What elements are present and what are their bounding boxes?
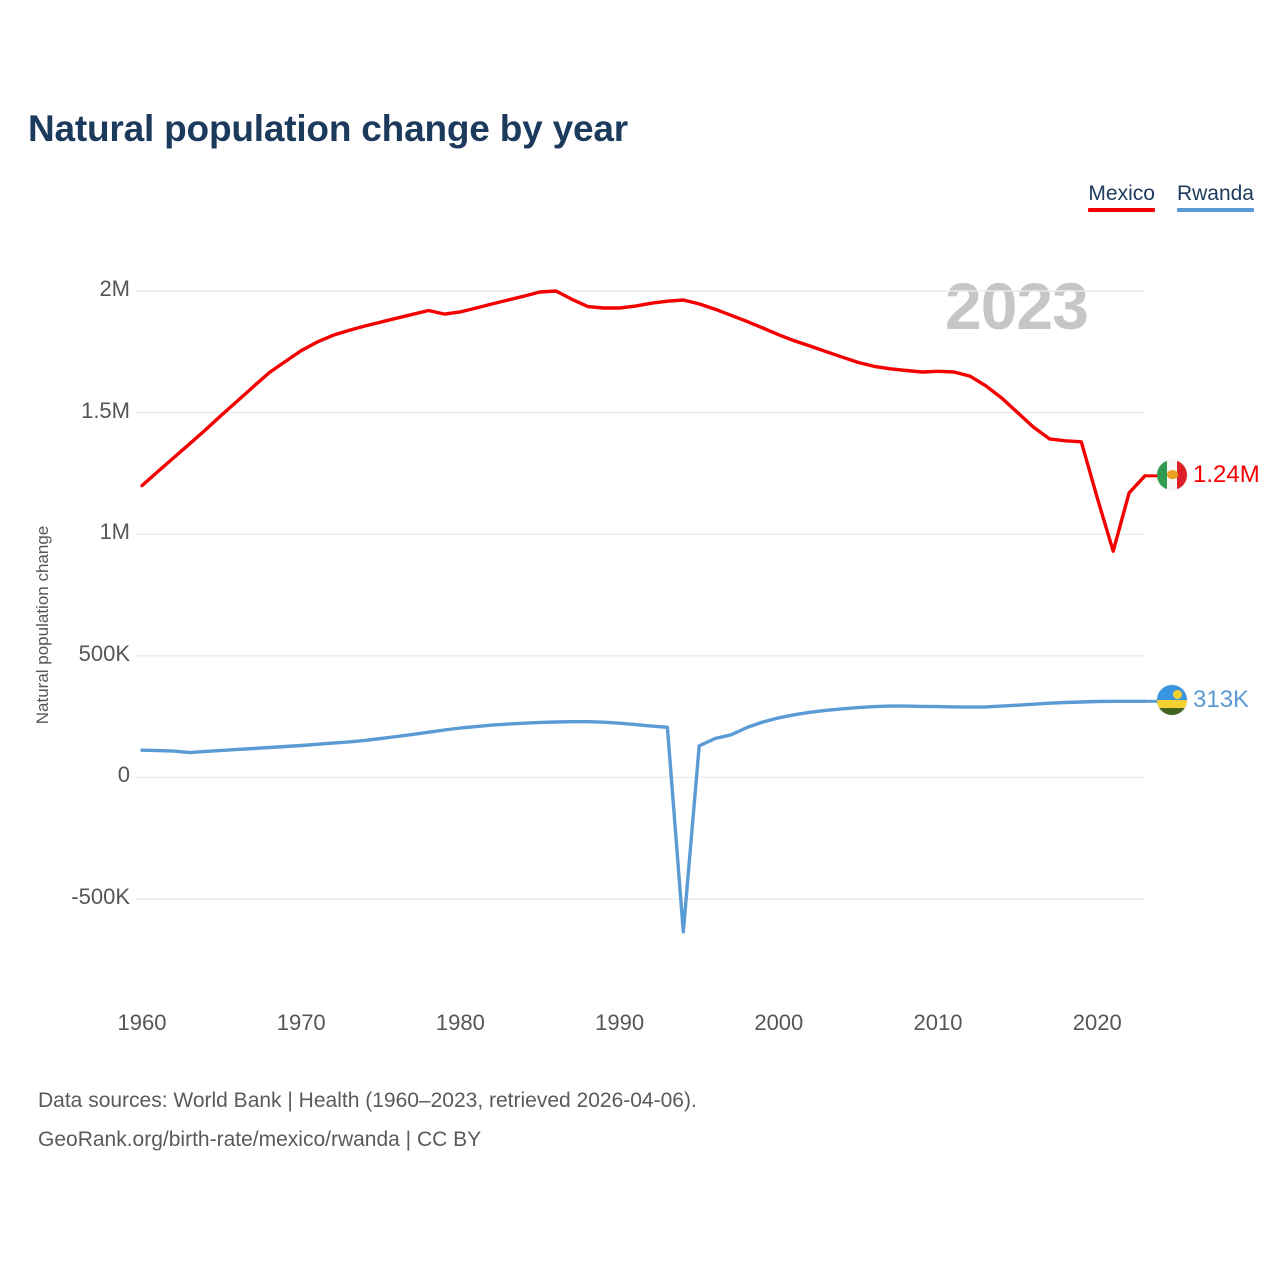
series-lines [142,291,1145,932]
end-value-mexico: 1.24M [1193,461,1260,489]
gridlines [136,291,1145,899]
mexico-flag-icon [1157,460,1187,490]
y-tick-label: 500K [20,641,130,667]
x-tick-label: 2000 [734,1010,824,1036]
footer-data-sources: Data sources: World Bank | Health (1960–… [38,1089,697,1113]
x-tick-label: 1990 [575,1010,665,1036]
y-tick-label: 0 [20,762,130,788]
x-tick-label: 1980 [415,1010,505,1036]
x-tick-label: 2020 [1052,1010,1142,1036]
y-tick-label: 2M [20,276,130,302]
y-tick-label: 1M [20,519,130,545]
plot-area [0,0,1280,1280]
y-tick-label: -500K [20,884,130,910]
end-label-rwanda: 313K [1157,685,1249,715]
x-tick-label: 1960 [97,1010,187,1036]
end-label-connectors [1145,476,1159,701]
series-line-mexico [142,291,1145,551]
end-value-rwanda: 313K [1193,686,1249,714]
chart-container: Natural population change by year Mexico… [0,0,1280,1280]
x-tick-label: 1970 [256,1010,346,1036]
series-line-rwanda [142,701,1145,932]
end-label-mexico: 1.24M [1157,460,1260,490]
y-tick-label: 1.5M [20,398,130,424]
x-tick-label: 2010 [893,1010,983,1036]
rwanda-flag-icon [1157,685,1187,715]
footer-attribution: GeoRank.org/birth-rate/mexico/rwanda | C… [38,1128,481,1152]
